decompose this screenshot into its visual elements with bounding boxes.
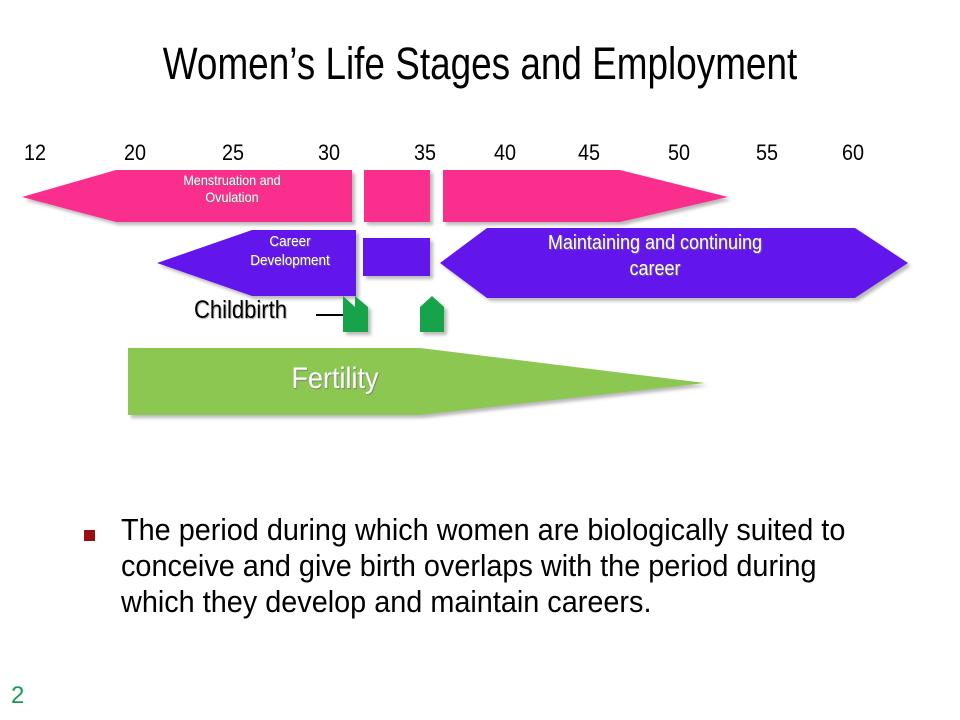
band-shape-menstruation-tail [443,170,728,222]
life-stages-diagram: Menstruation and Ovulation Career Develo… [0,160,960,435]
page-title: Women’s Life Stages and Employment [86,36,873,92]
body-content: The period during which women are biolog… [84,512,934,620]
body-paragraph: The period during which women are biolog… [121,512,877,620]
band-shape-fertility [128,348,705,415]
band-shape-career-gap-block [363,238,430,276]
diagram-shapes [0,160,960,435]
band-shape-career-development [157,230,356,296]
childbirth-marker-1 [343,296,368,332]
band-shape-menstruation [22,170,352,222]
band-shape-menstruation-gap-block [364,170,430,222]
band-label-childbirth: Childbirth [194,295,287,325]
bullet-marker-icon [84,530,95,541]
band-shape-maintaining-career [440,228,908,298]
page-number: 2 [11,682,24,710]
childbirth-marker-2 [420,296,444,332]
